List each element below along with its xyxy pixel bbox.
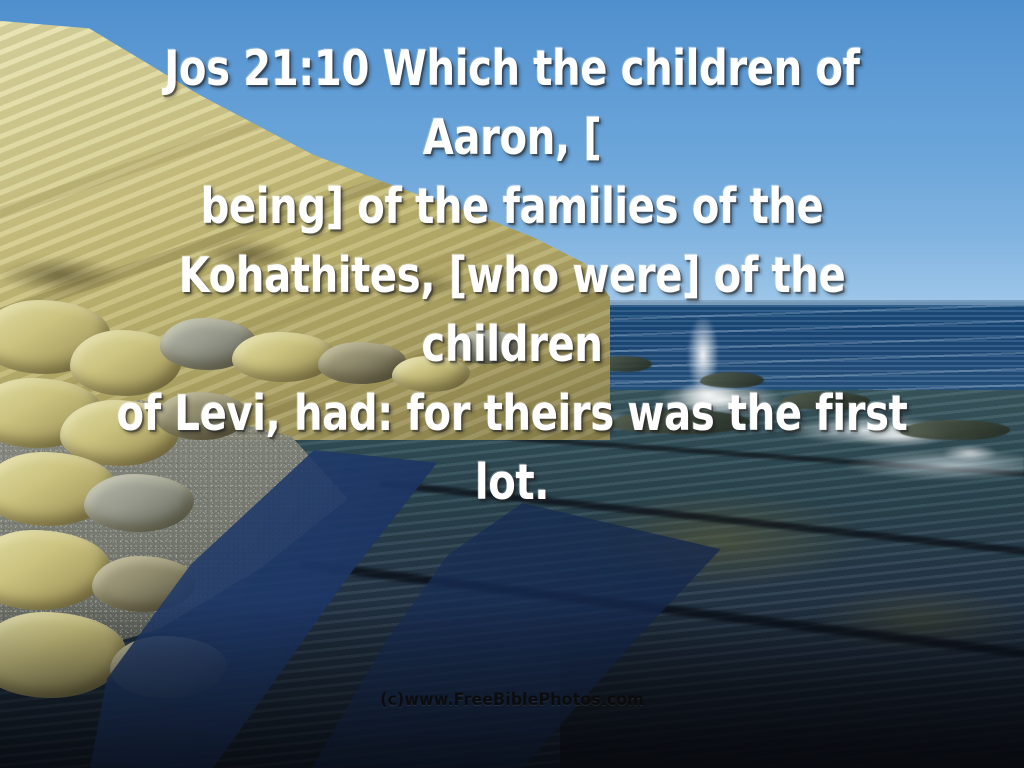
surf-rock [780, 392, 870, 410]
verse-image-canvas: Jos 21:10 Which the children of Aaron, [… [0, 0, 1024, 768]
watermark-credit: (c)www.FreeBiblePhotos.com [31, 690, 994, 710]
surf-rock [610, 410, 750, 434]
surf-rock [900, 420, 1010, 440]
surf-rock [700, 372, 764, 388]
wave-splash-plume [648, 300, 768, 410]
foreground-vignette [0, 600, 1024, 768]
